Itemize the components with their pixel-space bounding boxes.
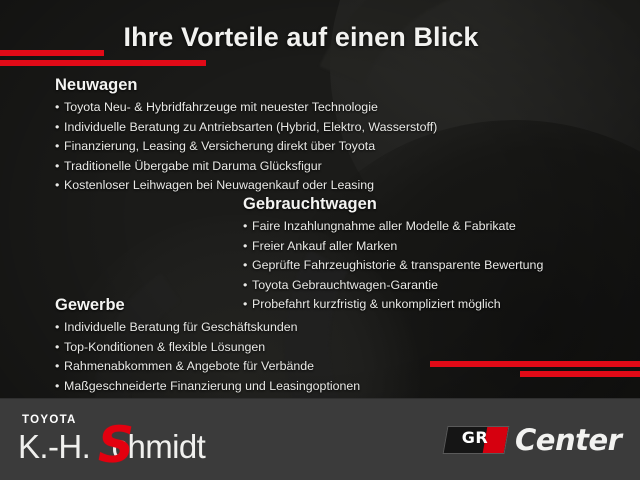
accent-bar-bottom-right-short [520, 371, 640, 377]
slide-canvas: Ihre Vorteile auf einen Blick Neuwagen •… [0, 0, 640, 480]
list-item-label: Individuelle Beratung zu Antriebsarten (… [64, 120, 437, 134]
bullet-icon: • [243, 256, 252, 276]
bullet-icon: • [243, 237, 252, 257]
dealer-name-prefix: K.-H. [18, 428, 90, 465]
list-item-label: Traditionelle Übergabe mit Daruma Glücks… [64, 159, 322, 173]
list-item: •Maßgeschneiderte Finanzierung und Leasi… [55, 377, 360, 397]
list-item: •Individuelle Beratung zu Antriebsarten … [55, 118, 437, 138]
list-item-label: Maßgeschneiderte Finanzierung und Leasin… [64, 379, 360, 393]
list-item-label: Faire Inzahlungnahme aller Modelle & Fab… [252, 219, 516, 233]
list-item: •Geprüfte Fahrzeughistorie & transparent… [243, 256, 543, 276]
section-heading-neuwagen: Neuwagen [55, 76, 437, 95]
bullet-icon: • [55, 137, 64, 157]
footer-divider [0, 398, 640, 399]
list-item: •Top-Konditionen & flexible Lösungen [55, 338, 360, 358]
list-item: •Toyota Neu- & Hybridfahrzeuge mit neues… [55, 98, 437, 118]
list-item-label: Finanzierung, Leasing & Versicherung dir… [64, 139, 375, 153]
section-heading-gebrauchtwagen: Gebrauchtwagen [243, 195, 543, 214]
dealer-logo-accent-s: S [98, 420, 134, 470]
accent-bar-top-left-long [0, 60, 206, 66]
bullet-icon: • [55, 318, 64, 338]
bullet-icon: • [55, 357, 64, 377]
list-item-label: Kostenloser Leihwagen bei Neuwagenkauf o… [64, 178, 374, 192]
list-item: •Individuelle Beratung für Geschäftskund… [55, 318, 360, 338]
list-item-label: Freier Ankauf aller Marken [252, 239, 397, 253]
list-item-label: Individuelle Beratung für Geschäftskunde… [64, 320, 298, 334]
list-item-label: Toyota Gebrauchtwagen-Garantie [252, 278, 438, 292]
bullet-icon: • [243, 276, 252, 296]
list-item: •Toyota Gebrauchtwagen-Garantie [243, 276, 543, 296]
section-heading-gewerbe: Gewerbe [55, 296, 360, 315]
bullet-icon: • [55, 157, 64, 177]
gr-badge-label: GR [445, 424, 505, 450]
section-gewerbe: Gewerbe •Individuelle Beratung für Gesch… [55, 296, 360, 396]
bullet-icon: • [55, 377, 64, 397]
list-item-label: Geprüfte Fahrzeughistorie & transparente… [252, 258, 543, 272]
list-item: •Rahmenabkommen & Angebote für Verbände [55, 357, 360, 377]
bullet-icon: • [55, 176, 64, 196]
list-item: •Faire Inzahlungnahme aller Modelle & Fa… [243, 217, 543, 237]
bullet-icon: • [55, 98, 64, 118]
gr-center-wordmark: Center [515, 423, 621, 457]
bullet-list-gewerbe: •Individuelle Beratung für Geschäftskund… [55, 318, 360, 396]
toyota-wordmark: TOYOTA [22, 414, 77, 426]
bullet-icon: • [55, 338, 64, 358]
list-item-label: Toyota Neu- & Hybridfahrzeuge mit neuest… [64, 100, 378, 114]
page-title: Ihre Vorteile auf einen Blick [0, 22, 602, 53]
bullet-icon: • [243, 217, 252, 237]
list-item-label: Rahmenabkommen & Angebote für Verbände [64, 359, 314, 373]
list-item-label: Top-Konditionen & flexible Lösungen [64, 340, 265, 354]
list-item: •Freier Ankauf aller Marken [243, 237, 543, 257]
list-item: •Kostenloser Leihwagen bei Neuwagenkauf … [55, 176, 437, 196]
section-neuwagen: Neuwagen •Toyota Neu- & Hybridfahrzeuge … [55, 76, 437, 196]
bullet-list-neuwagen: •Toyota Neu- & Hybridfahrzeuge mit neues… [55, 98, 437, 196]
list-item: •Finanzierung, Leasing & Versicherung di… [55, 137, 437, 157]
list-item: •Traditionelle Übergabe mit Daruma Glück… [55, 157, 437, 177]
bullet-icon: • [55, 118, 64, 138]
accent-bar-bottom-right-long [430, 361, 640, 367]
